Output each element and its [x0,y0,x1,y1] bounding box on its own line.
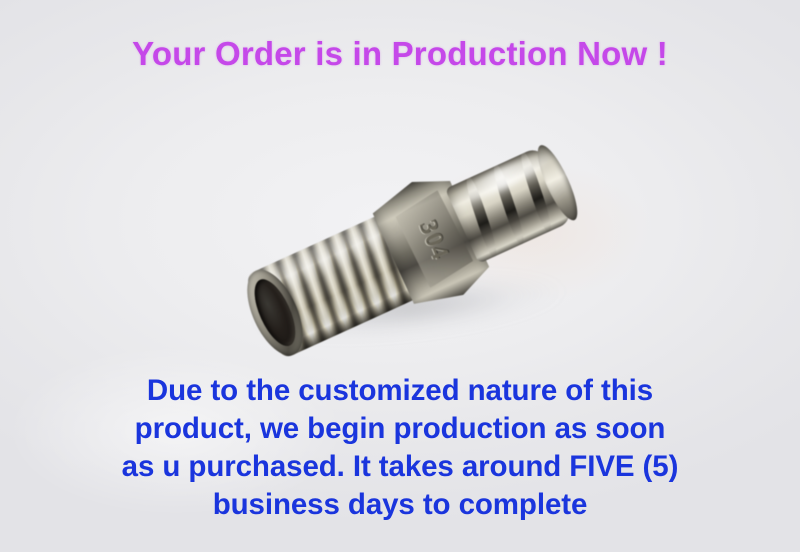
product-photo: 304 [232,150,584,355]
notice-line: business days to complete [0,486,800,524]
production-notice: Due to the customized nature of this pro… [0,372,800,524]
page-title: Your Order is in Production Now ! [0,35,800,73]
notice-line: as u purchased. It takes around FIVE (5) [0,448,800,486]
notice-line: Due to the customized nature of this [0,372,800,410]
promo-banner: Your Order is in Production Now ! 304 Du… [0,0,800,552]
notice-line: product, we begin production as soon [0,410,800,448]
